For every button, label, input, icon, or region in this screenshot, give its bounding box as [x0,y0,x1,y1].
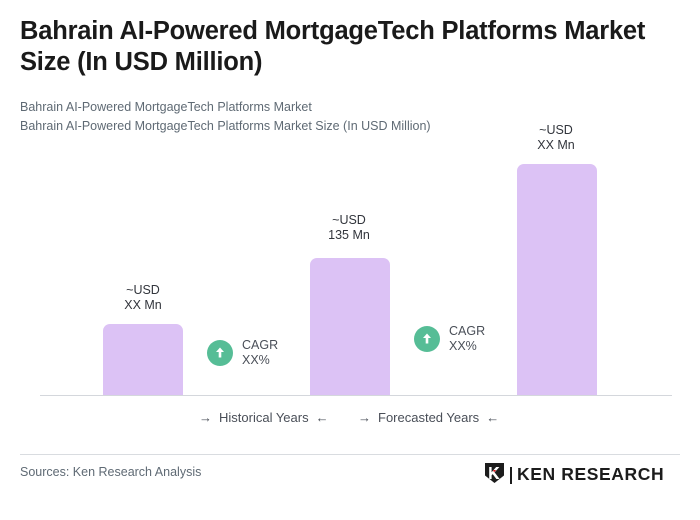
cagr-annotation-2: CAGR XX% [414,324,485,353]
cagr-annotation-1: CAGR XX% [207,338,278,367]
axis-band-historical: → Historical Years ← [199,410,329,425]
arrow-left-icon: ← [316,410,329,425]
axis-band-forecasted-label: Forecasted Years [378,410,479,425]
axis-band-forecasted: → Forecasted Years ← [358,410,499,425]
axis-band-historical-label: Historical Years [219,410,309,425]
bar-forecast-3[interactable] [517,164,597,395]
up-arrow-icon [207,340,233,366]
bar-value-label-3: ~USD XX Mn [516,123,596,152]
sources-label: Sources: Ken Research Analysis [20,465,201,479]
chart-page: Bahrain AI-Powered MortgageTech Platform… [0,0,700,520]
up-arrow-icon [414,326,440,352]
arrow-left-icon: ← [486,410,499,425]
ken-research-logo: KEN RESEARCH [484,464,664,486]
cagr-label-2: CAGR XX% [449,324,485,353]
bar-value-label-1: ~USD XX Mn [103,283,183,312]
bar-current-2[interactable] [310,258,390,395]
arrow-right-icon: → [358,410,371,425]
footer-divider [20,454,680,455]
arrow-right-icon: → [199,410,212,425]
cagr-label-1: CAGR XX% [242,338,278,367]
bar-value-label-2: ~USD 135 Mn [309,213,389,242]
bar-historical-1[interactable] [103,324,183,395]
ken-research-shield-k-icon [484,462,505,489]
logo-separator [510,467,512,484]
chart-plot-area: ~USD XX Mn ~USD 135 Mn ~USD XX Mn CAGR X… [0,0,700,400]
x-axis-line [40,395,672,396]
ken-research-wordmark: KEN RESEARCH [517,466,664,484]
